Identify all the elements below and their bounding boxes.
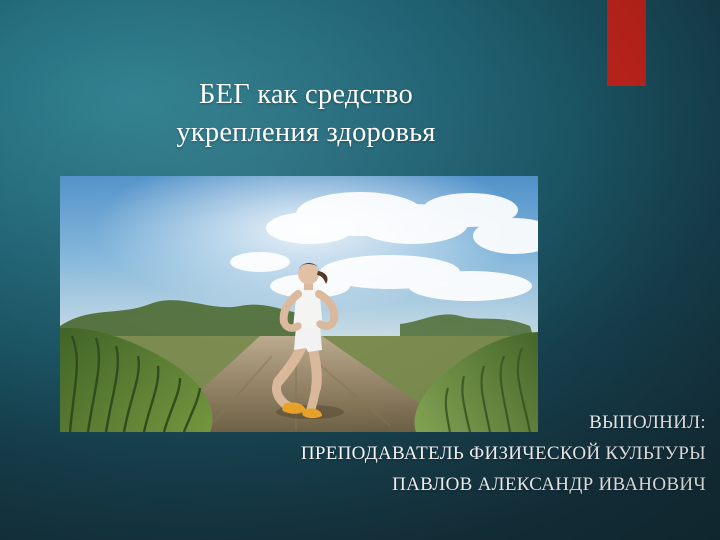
credit-line-3: ПАВЛОВ АЛЕКСАНДР ИВАНОВИЧ <box>146 470 706 501</box>
slide-title-line-1: БЕГ как средство <box>60 76 552 114</box>
accent-bar <box>607 0 646 86</box>
runner-photo <box>60 176 538 432</box>
slide-title-line-2: укрепления здоровья <box>60 114 552 152</box>
credit-line-2: ПРЕПОДАВАТЕЛЬ ФИЗИЧЕСКОЙ КУЛЬТУРЫ <box>146 439 706 470</box>
credit-line-1: ВЫПОЛНИЛ: <box>146 408 706 439</box>
runner-photo-illustration <box>60 176 538 432</box>
slide-title: БЕГ как средство укрепления здоровья <box>60 76 552 151</box>
author-credits: ВЫПОЛНИЛ: ПРЕПОДАВАТЕЛЬ ФИЗИЧЕСКОЙ КУЛЬТ… <box>146 408 706 500</box>
presentation-slide: БЕГ как средство укрепления здоровья <box>0 0 720 540</box>
